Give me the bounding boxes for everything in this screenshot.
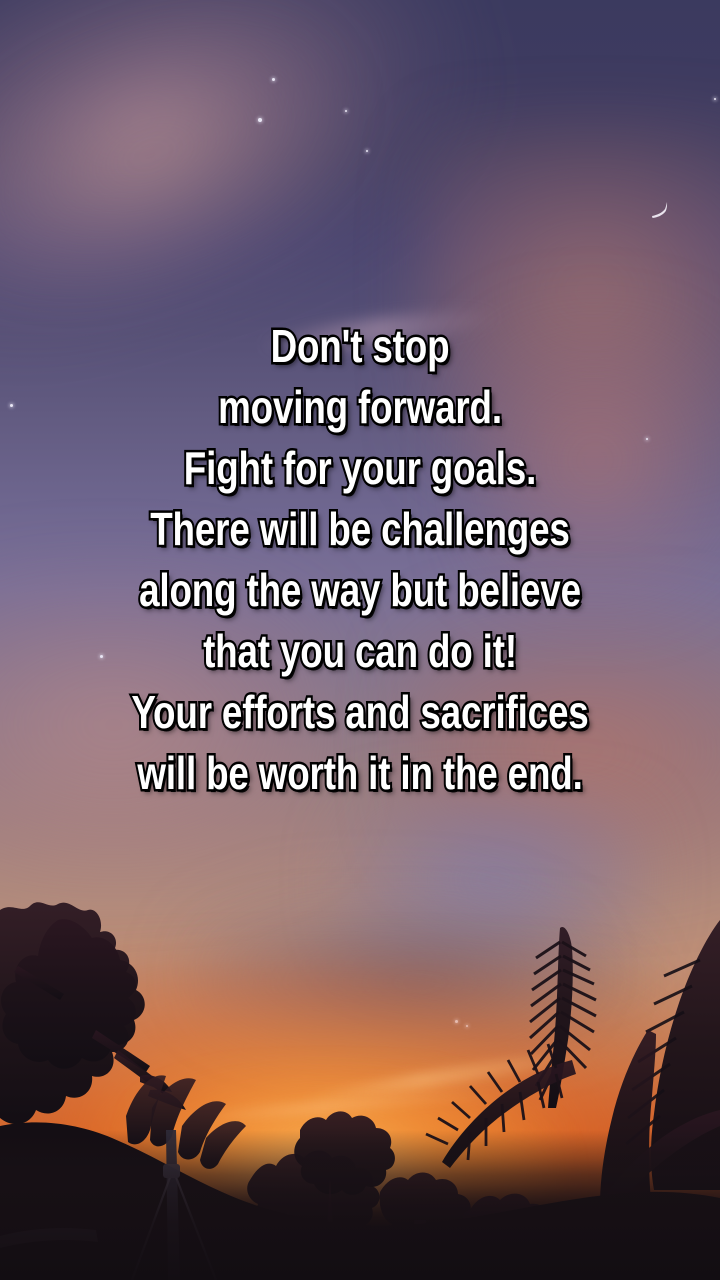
star-12	[466, 1025, 468, 1027]
star-1	[272, 78, 275, 81]
quote-line-6: that you can do it!	[86, 621, 633, 682]
quote-line-2: moving forward.	[86, 377, 633, 438]
star-4	[366, 150, 368, 152]
ground-shadow	[0, 1130, 720, 1280]
quote-line-8: will be worth it in the end.	[86, 743, 633, 804]
star-5	[714, 98, 716, 100]
crescent-sliver-icon	[650, 200, 676, 224]
wallpaper-canvas: Don't stop moving forward. Fight for you…	[0, 0, 720, 1280]
quote-line-1: Don't stop	[86, 316, 633, 377]
star-2	[258, 118, 262, 122]
star-3	[345, 110, 347, 112]
quote-line-5: along the way but believe	[86, 560, 633, 621]
quote-line-4: There will be challenges	[86, 499, 633, 560]
quote-block: Don't stop moving forward. Fight for you…	[0, 316, 720, 804]
quote-line-7: Your efforts and sacrifices	[86, 682, 633, 743]
quote-line-3: Fight for your goals.	[86, 438, 633, 499]
star-11	[455, 1020, 458, 1023]
